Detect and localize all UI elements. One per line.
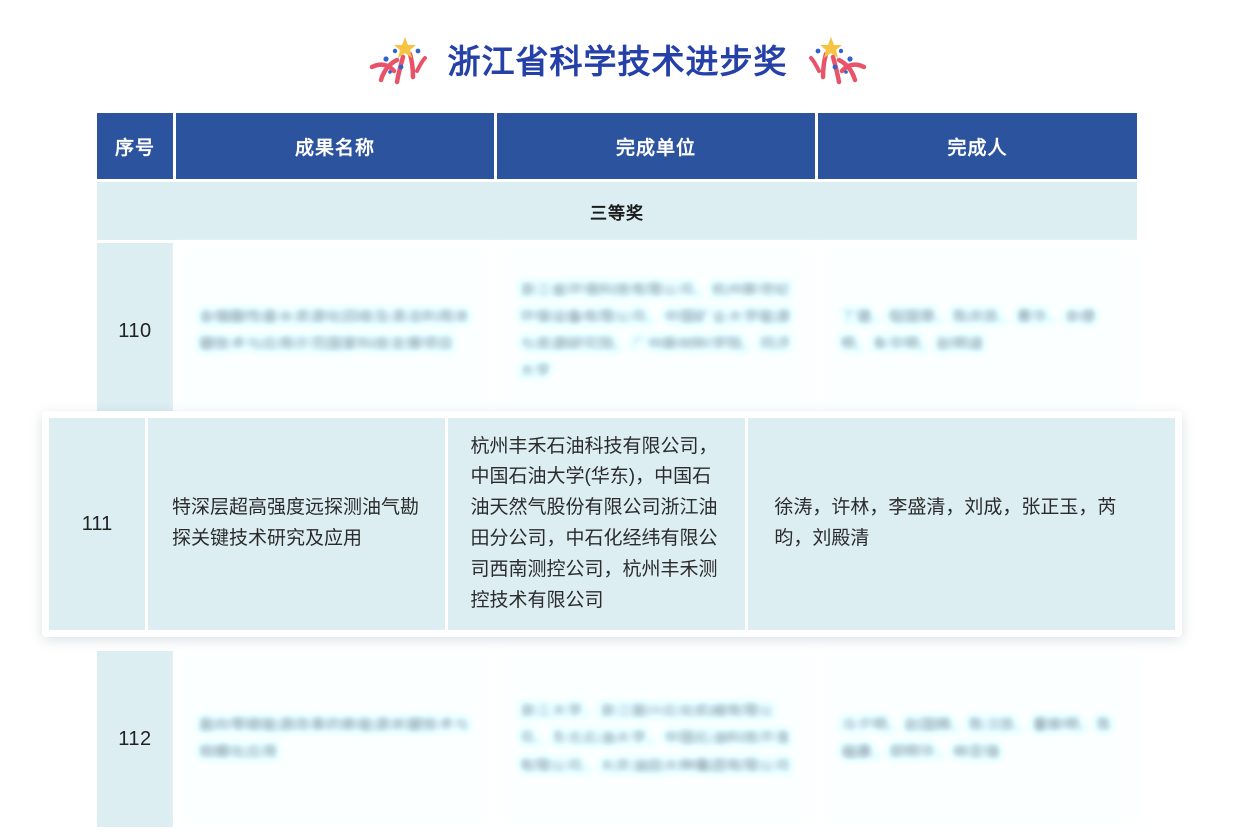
row-people-111: 徐涛，许林，李盛清，刘成，张正玉，芮昀，刘殿清 [748, 418, 1175, 630]
table-row[interactable]: 112 面向零碳能源改革的新能源关键技术与规模化应用 浙江大学，浙江振兴石化机械… [97, 651, 1137, 827]
table-header-row: 序号 成果名称 完成单位 完成人 [97, 113, 1137, 179]
row-units-112: 浙江大学，浙江振兴石化机械有限公司，东北石油大学，中国石油科技开发有限公司，大庆… [497, 651, 815, 827]
page-title-banner: 浙江省科学技术进步奖 [0, 28, 1235, 94]
row-name-111: 特深层超高强度远探测油气勘探关键技术研究及应用 [148, 418, 445, 630]
firework-icon-left [368, 33, 430, 89]
row-name-112: 面向零碳能源改革的新能源关键技术与规模化应用 [176, 651, 494, 827]
row-people-112: 冯子明，赵国辉，陈汉民，董新明，陈福康，郑明华，林亚瑞 [818, 651, 1137, 827]
row-people-110: 丁建，程国荣，陈庆民，黄华，余德明，朱华明，赵明道 [818, 243, 1137, 419]
highlighted-table-row-111[interactable]: 111 特深层超高强度远探测油气勘探关键技术研究及应用 杭州丰禾石油科技有限公司… [42, 411, 1182, 637]
column-header-name: 成果名称 [176, 113, 494, 179]
page-title: 浙江省科学技术进步奖 [448, 45, 788, 78]
table-header: 序号 成果名称 完成单位 完成人 [97, 113, 1137, 179]
row-units-110: 浙江省环境科技有限公司，杭州新世纪环保设备有限公司，中国矿业大学能源与资源研究院… [497, 243, 815, 419]
row-index-111: 111 [49, 418, 145, 630]
row-units-111: 杭州丰禾石油科技有限公司，中国石油大学(华东)，中国石油天然气股份有限公司浙江油… [448, 418, 745, 630]
column-header-people: 完成人 [818, 113, 1137, 179]
table-row[interactable]: 110 含铬酸性废水资源化回收及清洁利用关键技术与应用示范国家科技支撑项目 浙江… [97, 243, 1137, 419]
column-header-index: 序号 [97, 113, 173, 179]
row-name-110: 含铬酸性废水资源化回收及清洁利用关键技术与应用示范国家科技支撑项目 [176, 243, 494, 419]
row-index-112: 112 [97, 651, 173, 827]
award-group-label: 三等奖 [97, 182, 1137, 240]
firework-icon-right [806, 33, 868, 89]
column-header-units: 完成单位 [497, 113, 815, 179]
award-group-row: 三等奖 [97, 182, 1137, 240]
row-index-110: 110 [97, 243, 173, 419]
